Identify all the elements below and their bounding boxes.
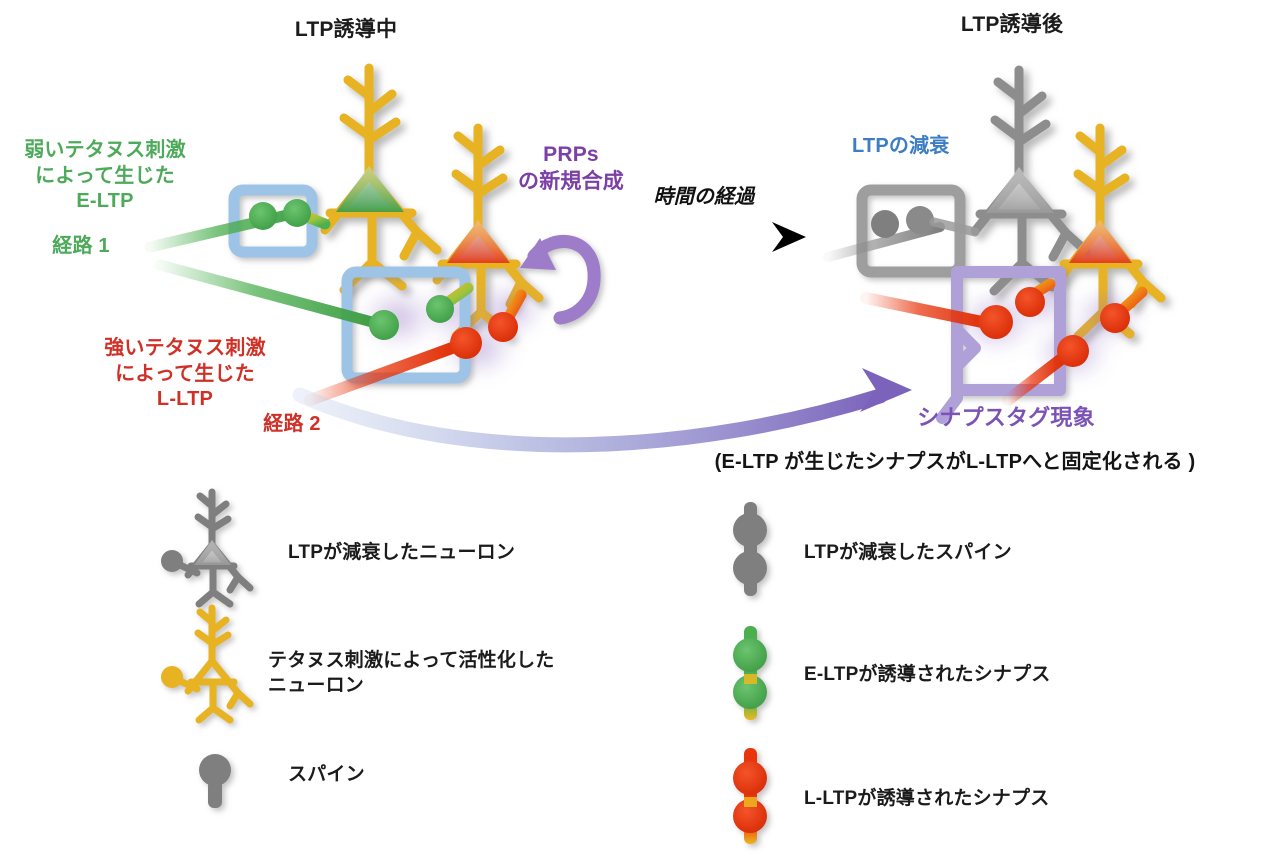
legend-icon-green-double-spine	[733, 626, 767, 720]
red-spine-tagged-right	[1015, 287, 1045, 317]
red-spine-right	[1057, 335, 1089, 367]
legend-icon-gold-neuron	[161, 608, 250, 720]
red-soma-fill	[447, 220, 510, 263]
gray-spine	[906, 206, 934, 234]
red-spine-tagged	[488, 312, 518, 342]
legend-label-decayed-neuron: LTPが減衰したニューロン	[288, 540, 618, 565]
red-spine	[450, 327, 482, 359]
legend-label-eltp-synapse: E-LTPが誘導されたシナプス	[804, 662, 1204, 687]
legend-label-spine: スパイン	[288, 762, 528, 787]
annotation-time-passage: 時間の経過	[614, 185, 794, 211]
green-spine	[249, 202, 277, 230]
annotation-weak-tetanus: 弱いテタヌス刺激 によって生じた E-LTP	[0, 138, 210, 215]
right-neuron-gray	[975, 70, 1086, 291]
red-spine-tagged-right	[1100, 303, 1130, 333]
legend-label-lltp-synapse: L-LTPが誘導されたシナプス	[804, 786, 1204, 811]
time-arrow	[604, 222, 806, 252]
panel-title-left: LTP誘導中	[256, 17, 436, 44]
left-neuron-one	[325, 68, 437, 290]
decayed-gray-axon	[828, 206, 975, 257]
annotation-synaptic-tag: シナプスタグ現象	[856, 404, 1156, 432]
legend-label-activated-neuron: テタヌス刺激によって活性化した ニューロン	[268, 648, 668, 698]
legend-icon-spine	[199, 754, 231, 808]
green-spine-tagged	[283, 199, 311, 227]
legend-gold-spine-head	[161, 666, 183, 688]
legend-label-decayed-spine: LTPが減衰したスパイン	[804, 540, 1184, 565]
gray-spine	[871, 210, 899, 238]
red-spine-right	[979, 305, 1013, 339]
legend-icon-gray-double-spine	[733, 502, 767, 596]
legend-icon-gray-neuron	[161, 492, 250, 604]
annotation-pathway-1: 経路 1	[16, 234, 146, 260]
panel-title-right: LTP誘導後	[912, 12, 1112, 39]
green-soma-fill	[336, 166, 404, 212]
diagram-caption: (E-LTP が生じたシナプスがL-LTPへと固定化される )	[630, 450, 1280, 476]
annotation-pathway-2: 経路 2	[232, 412, 352, 438]
green-spine	[369, 310, 399, 340]
diagram-canvas: LTP誘導中 LTP誘導後 弱いテタヌス刺激 によって生じた E-LTP 経路 …	[0, 0, 1280, 862]
annotation-ltp-decay: LTPの減衰	[852, 134, 1032, 160]
legend-icon-red-double-spine	[733, 748, 767, 844]
annotation-strong-tetanus: 強いテタヌス刺激 によって生じた L-LTP	[62, 336, 308, 413]
legend-gray-spine-head	[161, 550, 183, 572]
gray-soma-fill	[986, 167, 1054, 213]
green-spine-tagged	[426, 295, 454, 323]
